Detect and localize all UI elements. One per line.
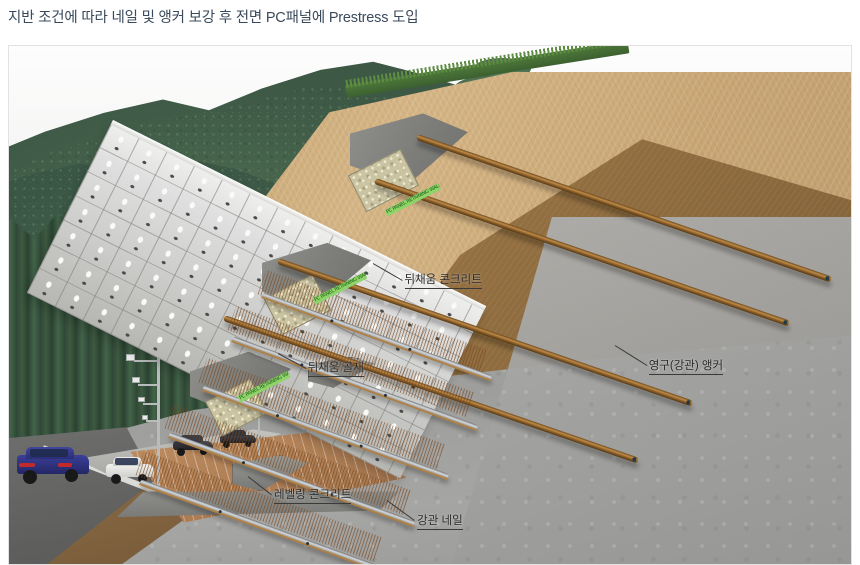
callout-backfill-concrete-label: 뒤채움 콘크리트 (405, 271, 482, 289)
page-title: 지반 조건에 따라 네일 및 앵커 보강 후 전면 PC패널에 Prestres… (8, 6, 418, 27)
callout-permanent-anchor-label: 영구(강관) 앵커 (649, 357, 723, 375)
callout-backfill-aggregate-label: 뒤채움 골재 (308, 359, 364, 377)
car-blue (17, 445, 89, 479)
illustration-figure: PC PANEL RETAINING WALL SYSTEM PC PANEL … (8, 45, 852, 565)
callout-steel-pipe-nail-label: 강관 네일 (417, 512, 463, 530)
callout-leveling-concrete-label: 레벨링 콘크리트 (274, 486, 351, 504)
